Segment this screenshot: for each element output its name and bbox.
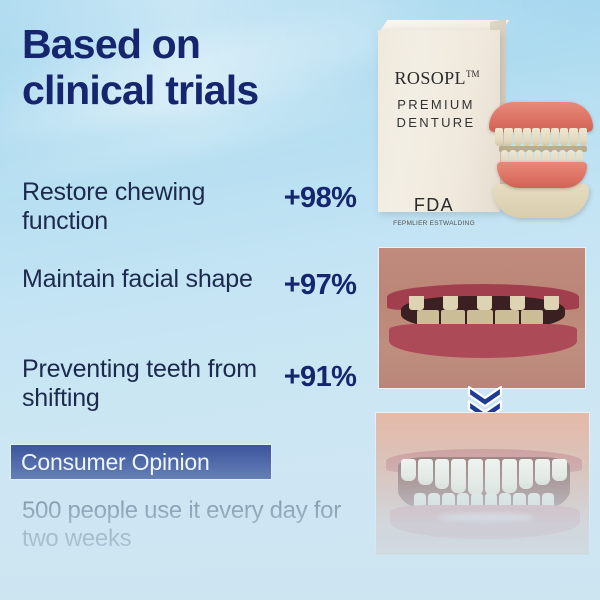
denture-lower-gum bbox=[497, 162, 587, 188]
denture-model bbox=[487, 100, 595, 218]
headline-line-1: Based on bbox=[22, 22, 362, 68]
advertisement-canvas: Based on clinical trials Restore chewing… bbox=[0, 0, 600, 600]
after-photo bbox=[375, 412, 590, 556]
product-subtitle-line-2: DENTURE bbox=[378, 114, 494, 132]
feature-value: +97% bbox=[272, 269, 368, 302]
after-lower-lip bbox=[390, 505, 580, 539]
headline-line-2: clinical trials bbox=[22, 68, 362, 114]
consumer-opinion-banner: Consumer Opinion bbox=[10, 444, 272, 480]
denture-upper-teeth bbox=[495, 128, 587, 146]
product-box-front-face: ROSOPLTM PREMIUM DENTURE FDA FEPMLIER ES… bbox=[378, 30, 500, 212]
feature-label: Maintain facial shape bbox=[22, 265, 274, 294]
feature-value: +98% bbox=[272, 182, 368, 215]
feature-value: +91% bbox=[272, 361, 368, 394]
before-upper-teeth bbox=[409, 296, 559, 310]
product-brand-text: ROSOPL bbox=[395, 68, 466, 88]
feature-label: Preventing teeth from shifting bbox=[22, 355, 274, 413]
product-certification: FDA bbox=[378, 195, 490, 216]
before-lower-lip bbox=[389, 324, 577, 358]
after-lip-highlight bbox=[438, 513, 534, 522]
feature-label: Restore chewing function bbox=[22, 178, 274, 236]
trademark-symbol: TM bbox=[466, 69, 480, 79]
product-box: ROSOPLTM PREMIUM DENTURE FDA FEPMLIER ES… bbox=[378, 20, 500, 212]
before-photo bbox=[378, 247, 586, 389]
product-brand-name: ROSOPLTM bbox=[378, 68, 496, 89]
denture-base bbox=[493, 184, 589, 218]
headline: Based on clinical trials bbox=[22, 22, 362, 114]
consumer-opinion-label: Consumer Opinion bbox=[11, 449, 210, 476]
product-subtitle: PREMIUM DENTURE bbox=[378, 96, 494, 131]
consumer-opinion-note: 500 people use it every day for two week… bbox=[22, 497, 352, 554]
product-subtitle-line-1: PREMIUM bbox=[378, 96, 494, 114]
product-fine-print: FEPMLIER ESTWALDING bbox=[378, 220, 490, 227]
